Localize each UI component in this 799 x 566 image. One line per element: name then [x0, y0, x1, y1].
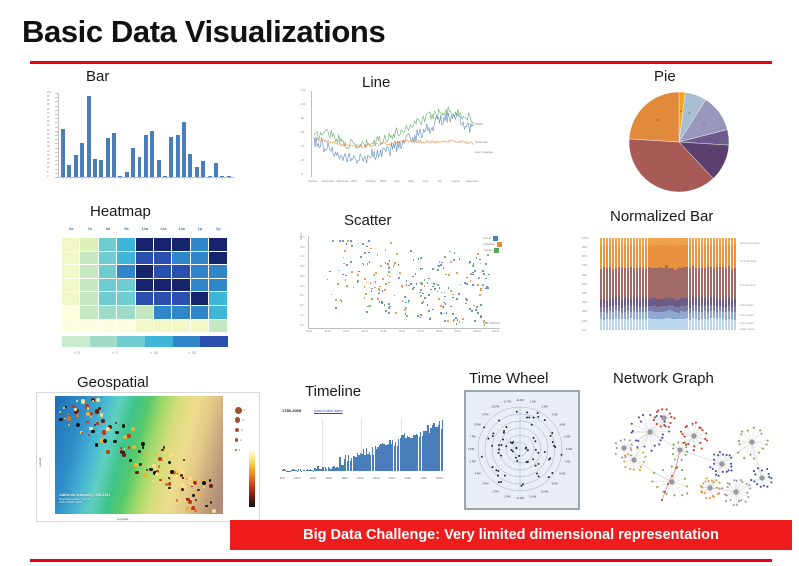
scatter-point: [466, 283, 468, 285]
scatter-point: [483, 273, 485, 275]
geospatial-earthquake-point: [59, 411, 60, 412]
bar-y-tick: [55, 156, 58, 157]
bar-y-tick: [55, 135, 58, 136]
bar-x-tick: [101, 177, 102, 179]
network-node: [768, 473, 770, 475]
time-wheel-point: [533, 437, 535, 439]
time-wheel-hour-label: 9 AM: [552, 482, 558, 486]
geospatial-earthquake-point: [155, 473, 157, 475]
heatmap-cell: [62, 238, 79, 251]
heatmap-cell: [172, 265, 189, 278]
network-node: [730, 457, 732, 459]
geospatial-map: California Seismicity, 1980-1991 Magnitu…: [55, 396, 223, 514]
scatter-point: [448, 287, 450, 289]
line-y-tick-label: 120: [301, 90, 305, 93]
time-wheel-point: [537, 452, 539, 454]
chart-title-normbar: Normalized Bar: [610, 208, 713, 225]
line-x-tick-label: February: [365, 181, 375, 184]
line-x-tick-label: April: [394, 181, 399, 184]
network-node: [615, 453, 617, 455]
bar-y-tick-label: 10: [47, 167, 50, 169]
scatter-point: [396, 253, 398, 255]
heatmap-cell: [154, 320, 171, 333]
heatmap-cell: [191, 320, 208, 333]
network-edge: [639, 417, 650, 432]
normalized-bar-segment: [734, 238, 736, 245]
scatter-legend-label: Arrival: [483, 237, 490, 240]
scatter-point: [384, 304, 386, 306]
timeline-bar: [442, 420, 443, 471]
line-y-tick-label: 20: [301, 160, 304, 163]
scatter-x-tick-label: 07-01: [418, 331, 424, 333]
scatter-point: [404, 309, 406, 311]
geospatial-earthquake-point: [86, 421, 89, 424]
heatmap-cell: [154, 238, 171, 251]
geospatial-earthquake-point: [176, 499, 178, 501]
geospatial-earthquake-point: [161, 449, 164, 452]
scatter-point: [345, 275, 347, 277]
time-wheel-point: [544, 451, 546, 453]
scatter-legend: ArrivalDepartureCancel: [483, 236, 502, 253]
scatter-point: [443, 306, 445, 308]
time-wheel-point: [531, 424, 533, 426]
network-node: [615, 442, 617, 444]
time-wheel-hour-label: 12 PM: [516, 496, 524, 500]
network-node: [706, 477, 708, 479]
bar-y-tick-label: 75: [47, 113, 50, 115]
heatmap-cell: [62, 306, 79, 319]
pie-slice: [629, 92, 679, 142]
scatter-y-tick-label: 15.0: [300, 276, 305, 278]
network-node: [672, 453, 674, 455]
geospatial-magnitude-label: 6: [242, 419, 243, 422]
time-wheel-hour-label: 8 PM: [475, 423, 481, 427]
scatter-point: [459, 321, 461, 323]
scatter-point: [398, 264, 400, 266]
network-node: [684, 436, 686, 438]
scatter-point: [375, 281, 377, 283]
scatter-point: [470, 280, 472, 282]
time-wheel-point: [552, 441, 554, 443]
normalized-bar-series-label: 3 to 6 hours: [740, 304, 754, 307]
geospatial-magnitude-swatch: [235, 438, 238, 441]
scatter-point: [388, 268, 390, 270]
bar-y-tick: [55, 127, 58, 128]
timeline-x-tick-label: 1960: [404, 476, 411, 480]
scatter-point: [460, 284, 462, 286]
bar-x-tick: [114, 177, 115, 179]
network-node: [719, 451, 721, 453]
network-node: [624, 438, 626, 440]
timeline-x-tick-label: 1860: [325, 476, 332, 480]
network-node: [616, 447, 618, 449]
timeline-chart: 1780-2009 Search other dates 18001820184…: [280, 408, 446, 480]
geospatial-earthquake-point: [88, 434, 90, 436]
network-node: [662, 469, 664, 471]
geospatial-x-axis-title: Longitude: [117, 518, 128, 521]
network-node: [733, 504, 735, 506]
network-node: [770, 481, 772, 483]
network-node: [753, 427, 755, 429]
geospatial-earthquake-point: [184, 500, 186, 502]
scatter-point: [390, 242, 392, 244]
scatter-point: [416, 283, 418, 285]
scatter-point: [327, 279, 329, 281]
network-edge: [632, 432, 650, 433]
scatter-point: [476, 257, 478, 259]
line-x-tick-label: 2014: [351, 181, 357, 184]
scatter-point: [402, 300, 404, 302]
scatter-x-tick-label: 01-01: [306, 331, 312, 333]
scatter-x-tick-label: 06-01: [399, 331, 405, 333]
network-hub-node: [678, 448, 683, 453]
geospatial-earthquake-point: [189, 477, 192, 480]
bar-y-tick-label: 5: [47, 172, 48, 174]
time-wheel-hour-label: 1 AM: [530, 400, 536, 404]
normalized-bar-y-tick-label: 70%: [582, 264, 587, 267]
time-wheel-point: [504, 475, 506, 477]
scatter-point: [337, 283, 339, 285]
network-hub-node: [632, 458, 637, 463]
scatter-point: [329, 271, 331, 273]
time-wheel-point: [551, 472, 553, 474]
time-wheel-hour-label: 10 AM: [541, 489, 548, 493]
line-y-tick-label: 100: [301, 104, 305, 107]
scatter-point: [465, 303, 467, 305]
geospatial-earthquake-point: [139, 463, 142, 466]
scatter-point: [439, 261, 441, 263]
scatter-point: [480, 290, 482, 292]
scatter-point: [405, 307, 407, 309]
heatmap-cell: [209, 279, 226, 292]
bar-y-tick-label: 20: [47, 159, 50, 161]
bar-y-tick: [55, 110, 58, 111]
heatmap-cell: [80, 252, 97, 265]
network-node: [741, 481, 743, 483]
scatter-point: [358, 243, 360, 245]
network-node: [642, 451, 644, 453]
scatter-point: [415, 273, 417, 275]
geospatial-earthquake-point: [95, 443, 99, 447]
normalized-bar-y-tick-label: 100%: [582, 237, 589, 240]
heatmap-cell: [172, 306, 189, 319]
network-node: [743, 457, 745, 459]
bar-item: [150, 131, 154, 177]
scatter-point: [434, 288, 436, 290]
bar-x-tick: [127, 177, 128, 179]
time-wheel-chart: 12 AM1 AM2 AM3 AM4 AM5 AM6 AM7 AM8 AM9 A…: [464, 390, 580, 510]
time-wheel-point: [516, 460, 518, 462]
scatter-point: [432, 286, 434, 288]
heatmap-cell: [117, 238, 134, 251]
network-node: [701, 447, 703, 449]
network-node: [643, 445, 645, 447]
network-node: [729, 483, 731, 485]
heatmap-cell: [209, 306, 226, 319]
heatmap-cell: [80, 265, 97, 278]
timeline-x-tick-label: 1940: [389, 476, 396, 480]
time-wheel-hour-label: 12 AM: [516, 398, 523, 402]
heatmap-cell: [154, 292, 171, 305]
network-node: [687, 443, 689, 445]
geospatial-earthquake-point: [123, 435, 127, 439]
time-wheel-point: [505, 426, 507, 428]
time-wheel-point: [483, 426, 485, 428]
geospatial-earthquake-point: [145, 452, 149, 456]
geospatial-earthquake-point: [212, 509, 216, 513]
geospatial-earthquake-point: [90, 416, 92, 418]
time-wheel-hour-label: 2 AM: [542, 405, 548, 409]
bar-y-tick-label: 90: [47, 100, 50, 102]
network-node: [766, 468, 768, 470]
scatter-point: [479, 294, 481, 296]
timeline-range-label: 1780-2009: [282, 408, 301, 413]
scatter-point: [380, 265, 382, 267]
geospatial-earthquake-point: [142, 446, 144, 448]
network-node: [763, 485, 765, 487]
network-node: [715, 479, 717, 481]
scatter-point: [477, 312, 479, 314]
scatter-point: [485, 263, 487, 265]
time-wheel-hour-label: 11 AM: [529, 494, 536, 498]
heatmap-column-header: 1p: [191, 226, 209, 231]
geospatial-magnitude-legend-item: 7: [235, 405, 245, 415]
geospatial-earthquake-point: [122, 424, 125, 427]
heatmap-cell: [172, 238, 189, 251]
geospatial-earthquake-point: [76, 400, 78, 402]
network-node: [740, 479, 742, 481]
scatter-point: [369, 261, 371, 263]
network-node: [766, 486, 768, 488]
bar-y-tick: [55, 114, 58, 115]
network-node: [686, 451, 688, 453]
network-node: [621, 457, 623, 459]
line-y-tick-label: 0: [301, 174, 302, 177]
network-node: [627, 453, 629, 455]
network-node: [722, 471, 724, 473]
network-node: [686, 425, 688, 427]
scatter-point: [363, 264, 365, 266]
network-edge: [633, 431, 650, 432]
scatter-point: [365, 293, 367, 295]
scatter-point: [475, 309, 477, 311]
geospatial-earthquake-point: [198, 493, 201, 496]
bar-x-tick: [171, 177, 172, 179]
heatmap-cell: [172, 252, 189, 265]
scatter-point: [438, 265, 440, 267]
heatmap-cell: [62, 292, 79, 305]
scatter-point: [469, 261, 471, 263]
geospatial-magnitude-swatch: [235, 449, 237, 451]
heatmap-cell: [191, 238, 208, 251]
network-hub-node: [734, 490, 739, 495]
time-wheel-point: [551, 432, 553, 434]
bar-y-tick: [55, 160, 58, 161]
network-node: [759, 429, 761, 431]
geospatial-earthquake-point: [152, 480, 154, 482]
network-node: [681, 459, 683, 461]
heatmap-colorbar-tick-label: < 20: [188, 350, 196, 355]
bar-x-tick: [133, 177, 134, 179]
bar-y-tick-label: 65: [47, 121, 50, 123]
network-node: [721, 487, 723, 489]
geospatial-y-axis-title: Latitude: [39, 458, 42, 467]
scatter-x-tick-label: 04-01: [362, 331, 368, 333]
geospatial-earthquake-point: [106, 450, 110, 454]
scatter-point: [486, 286, 488, 288]
scatter-point: [406, 280, 408, 282]
geospatial-earthquake-point: [202, 481, 206, 485]
geospatial-earthquake-point: [161, 459, 163, 461]
network-node: [664, 491, 666, 493]
time-wheel-point: [492, 433, 494, 435]
network-edge: [638, 432, 651, 447]
geospatial-earthquake-point: [152, 464, 156, 468]
network-node: [640, 466, 642, 468]
scatter-point: [433, 283, 435, 285]
network-node: [709, 466, 711, 468]
scatter-y-tick-label: 3.0: [300, 315, 303, 317]
bar-x-tick: [178, 177, 179, 179]
time-wheel-hour-label: 1 PM: [504, 494, 510, 498]
scatter-point: [395, 312, 397, 314]
heatmap-column-header: 2p: [209, 226, 227, 231]
scatter-point: [424, 279, 426, 281]
geospatial-earthquake-point: [159, 479, 162, 482]
normalized-bar-chart: 100%90%80%70%60%50%40%30%20%10%0% 24 hou…: [578, 234, 784, 342]
geospatial-earthquake-point: [67, 416, 72, 421]
network-node: [740, 499, 742, 501]
network-node: [651, 480, 653, 482]
scatter-point: [444, 320, 446, 322]
line-x-tick-label: May: [409, 181, 414, 184]
network-node: [749, 454, 751, 456]
scatter-point: [347, 240, 349, 242]
network-hub-node: [670, 480, 675, 485]
scatter-x-tick-label: 08-01: [436, 331, 442, 333]
scatter-point: [332, 240, 334, 242]
network-node: [700, 427, 702, 429]
geospatial-magnitude-legend: 76543: [235, 405, 245, 455]
scatter-x-tick-label: 05-01: [380, 331, 386, 333]
scatter-point: [382, 278, 384, 280]
scatter-point: [350, 261, 352, 263]
pie-svg: abcdefg: [627, 90, 747, 194]
heatmap-colorbar-segment: [62, 336, 90, 347]
heatmap-chart: 6a7a8a9a10a11a12a1p2p < 5< 7< 10< 20: [48, 226, 238, 358]
geospatial-magnitude-swatch: [235, 417, 241, 423]
network-node: [669, 422, 671, 424]
scatter-point: [444, 256, 446, 258]
bar-item: [131, 148, 135, 177]
scatter-point: [413, 259, 415, 261]
scatter-point: [487, 254, 489, 256]
scatter-point: [331, 294, 333, 296]
scatter-point: [428, 310, 430, 312]
network-node: [656, 486, 658, 488]
heatmap-colorbar-segment: [90, 336, 118, 347]
page-title: Basic Data Visualizations: [22, 14, 385, 50]
scatter-point: [362, 243, 364, 245]
geospatial-magnitude-label: 4: [240, 439, 241, 442]
chart-title-geospatial: Geospatial: [77, 374, 149, 391]
scatter-point: [450, 290, 452, 292]
scatter-point: [485, 278, 487, 280]
network-node: [736, 480, 738, 482]
scatter-point: [379, 292, 381, 294]
time-wheel-point: [516, 411, 518, 413]
heatmap-cell: [117, 292, 134, 305]
scatter-point: [389, 260, 391, 262]
bar-item: [157, 160, 161, 177]
network-hub-edge: [722, 442, 752, 464]
scatter-point: [343, 257, 345, 259]
bar-x-tick: [222, 177, 223, 179]
timeline-search-link[interactable]: Search other dates: [314, 409, 343, 413]
heatmap-column-header: 12a: [172, 226, 190, 231]
scatter-point: [427, 282, 429, 284]
geospatial-magnitude-swatch: [235, 428, 240, 433]
scatter-point: [388, 312, 390, 314]
heatmap-column-header: 7a: [80, 226, 98, 231]
network-hub-node: [708, 486, 713, 491]
network-node: [727, 486, 729, 488]
scatter-chart: 01-0102-0103-0104-0105-0106-0107-0108-01…: [290, 232, 506, 340]
heatmap-cell: [136, 279, 153, 292]
scatter-point: [449, 251, 451, 253]
scatter-point: [388, 282, 390, 284]
scatter-point: [430, 289, 432, 291]
scatter-point: [405, 302, 407, 304]
scatter-point: [428, 278, 430, 280]
scatter-point: [338, 270, 340, 272]
geospatial-earthquake-point: [103, 439, 107, 443]
network-node: [668, 426, 670, 428]
network-node: [716, 487, 718, 489]
scatter-point: [420, 289, 422, 291]
geospatial-earthquake-point: [65, 406, 67, 408]
heatmap-cell: [62, 265, 79, 278]
heatmap-cell: [117, 306, 134, 319]
geospatial-earthquake-point: [138, 450, 142, 454]
time-wheel-point: [518, 455, 520, 457]
scatter-legend-item: Cancel: [483, 248, 502, 253]
geospatial-earthquake-point: [174, 474, 178, 478]
geospatial-earthquake-point: [100, 413, 103, 416]
heatmap-colorbar-tick-label: < 7: [112, 350, 118, 355]
bar-item: [93, 159, 97, 177]
normalized-bar-segment: [734, 312, 736, 320]
bar-x-tick: [203, 177, 204, 179]
network-hub-edge: [752, 442, 762, 478]
network-node: [630, 454, 632, 456]
heatmap-cell: [191, 252, 208, 265]
network-node: [645, 456, 647, 458]
network-node: [713, 481, 715, 483]
network-node: [726, 471, 728, 473]
bar-item: [188, 154, 192, 177]
pie-chart: abcdefg: [627, 90, 747, 194]
scatter-y-tick-label: 18.0: [300, 266, 305, 268]
network-node: [623, 461, 625, 463]
timeline-x-tick-label: 1980: [420, 476, 427, 480]
scatter-point: [377, 254, 379, 256]
network-node: [705, 432, 707, 434]
bar-item: [195, 167, 199, 177]
time-wheel-hour-label: 3 PM: [482, 482, 488, 486]
time-wheel-hour-label: 5 AM: [564, 434, 570, 438]
geospatial-earthquake-point: [94, 424, 96, 426]
